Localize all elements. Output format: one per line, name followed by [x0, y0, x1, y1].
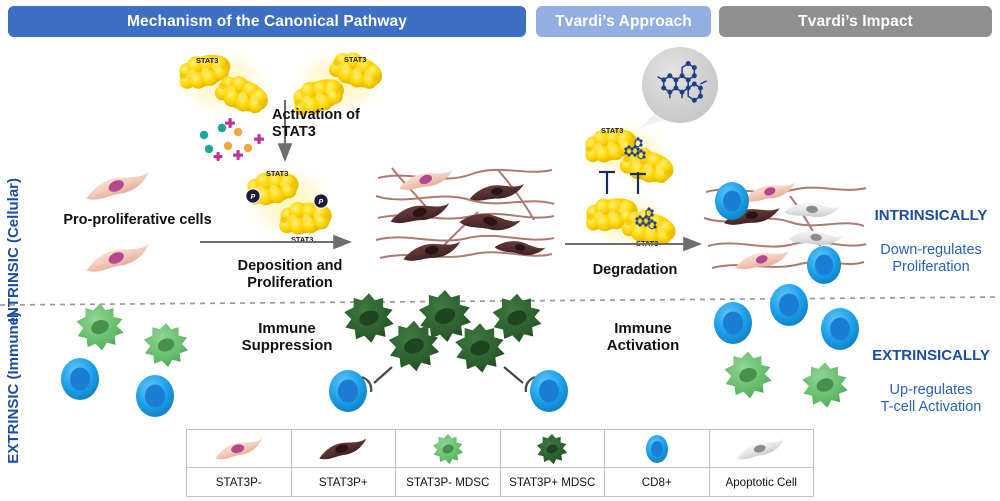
stat3p-plus-cell [494, 237, 546, 258]
stat3p-plus-cell [459, 210, 521, 233]
header-banner-tvardis-impact: Tvardi’s Impact [719, 6, 992, 37]
cytokine-dot-teal [200, 131, 208, 139]
stat3-label: STAT3 [636, 239, 658, 248]
cytokine-dot-teal [205, 145, 213, 153]
cytokine-cross-magenta [214, 118, 265, 161]
conclusion-extrinsic: EXTRINSICALLY Up-regulates T-cell Activa… [865, 330, 997, 433]
cytokine-cluster [200, 118, 264, 161]
legend-icon-cell [292, 430, 396, 468]
drug-molecule-icon [658, 62, 707, 102]
stat3p-minus-cell [742, 181, 797, 203]
axis-label-intrinsic-sub: (Cellular) [5, 178, 22, 243]
proliferating-cell-mass [376, 168, 554, 262]
post-treatment-cell-mass [704, 181, 866, 284]
drug-magnifier [640, 47, 718, 128]
stat3p-plus-cell [402, 240, 462, 263]
matrix-fibers [376, 168, 554, 258]
stat3p-plus-cell [723, 206, 781, 226]
legend: STAT3P- STAT3P+ [186, 429, 814, 497]
phospho-label: P [251, 194, 256, 201]
apoptotic-cell [789, 229, 844, 248]
stat3p-plus-cell [469, 182, 526, 201]
cd8-positive-cell [136, 375, 174, 417]
legend-item-stat3p-minus-mdsc: STAT3P- MDSC [396, 430, 501, 496]
stat3p-minus-mdsc [144, 323, 188, 367]
caption-deposition-and-proliferation: Deposition and Proliferation [205, 258, 375, 291]
stat3-label: STAT3 [601, 126, 623, 135]
caption-pro-proliferative-cells: Pro-proliferative cells [55, 212, 220, 229]
stat3-phosphorylated-dimer: STAT3 STAT3 P P [240, 161, 340, 245]
legend-icon-cell [605, 430, 709, 468]
legend-item-stat3p-plus: STAT3P+ [292, 430, 397, 496]
stat3p-plus-mdsc [389, 321, 439, 371]
cytokine-dot-orange [244, 144, 252, 152]
cd8-positive-cell [329, 370, 367, 412]
stat3-monomer-left: STAT3 [170, 44, 274, 120]
cytokine-dot-orange [224, 142, 232, 150]
axis-label-extrinsic: EXTRINSIC (Immune) [6, 312, 23, 464]
apoptotic-cell-icon [730, 434, 792, 464]
conclusion-intrinsic-headline: INTRINSICALLY [865, 207, 997, 225]
phospho-marker: P [246, 189, 260, 203]
legend-icon-cell [501, 430, 605, 468]
conclusion-intrinsic: INTRINSICALLY Down-regulates Proliferati… [865, 190, 997, 293]
stat3p-minus-cell [83, 242, 152, 274]
legend-label: STAT3P- [187, 468, 291, 496]
stat3p-minus-mdsc-icon [431, 432, 465, 466]
legend-label: STAT3P- MDSC [396, 468, 500, 496]
phospho-marker: P [314, 194, 328, 208]
stat3-inhibited-upper: STAT3 [579, 118, 677, 188]
stat3p-minus-mdsc [802, 362, 847, 407]
intrinsic-extrinsic-divider [0, 294, 1000, 308]
legend-icon-cell [710, 430, 814, 468]
legend-label: STAT3P+ MDSC [501, 468, 605, 496]
stat3p-plus-cell [389, 201, 451, 224]
legend-icon-cell [396, 430, 500, 468]
stat3-inhibited-lower: STAT3 [582, 190, 679, 254]
cd8-positive-cell [530, 370, 568, 412]
legend-icon-cell [187, 430, 291, 468]
stat3p-minus-cell [398, 168, 455, 191]
suppression-inhibition-left [362, 367, 392, 392]
stat3p-plus-mdsc [455, 323, 505, 373]
stat3-label: STAT3 [291, 235, 313, 244]
stat3p-minus-cell-icon [208, 434, 270, 464]
header-banner-label: Tvardi’s Approach [555, 13, 692, 31]
diagram-illustration: STAT3 STAT3 STAT3 STAT3 P [0, 0, 1000, 501]
conclusion-extrinsic-headline: EXTRINSICALLY [865, 347, 997, 365]
caption-degradation: Degradation [570, 262, 700, 279]
cytokine-dot-orange [234, 128, 242, 136]
cd8-positive-cell [821, 308, 859, 350]
cd8-positive-cell [715, 182, 749, 220]
cytokine-dot-teal [218, 124, 226, 132]
conclusion-extrinsic-body: Up-regulates T-cell Activation [865, 382, 997, 416]
cd8-positive-cell [807, 246, 841, 284]
caption-activation-of-stat3: Activation of STAT3 [272, 107, 392, 140]
matrix-fibers [704, 188, 866, 268]
legend-label: CD8+ [605, 468, 709, 496]
phospho-label: P [319, 199, 324, 206]
drug-molecule-bound-icon [625, 138, 645, 159]
header-banner-canonical-pathway: Mechanism of the Canonical Pathway [8, 6, 526, 37]
cd8-positive-cell [714, 302, 752, 344]
stat3p-minus-cell [734, 249, 791, 270]
caption-immune-suppression: Immune Suppression [222, 320, 352, 354]
stat3-label: STAT3 [266, 169, 288, 178]
axis-label-extrinsic-sub: (Immune) [5, 312, 22, 380]
conclusion-intrinsic-body: Down-regulates Proliferation [865, 242, 997, 276]
cd8-positive-cell [61, 358, 99, 400]
stat3p-minus-cell [83, 170, 152, 202]
dashed-divider-line [0, 297, 1000, 305]
stat3p-minus-mdsc [76, 303, 123, 350]
legend-item-stat3p-plus-mdsc: STAT3P+ MDSC [501, 430, 606, 496]
stat3-label: STAT3 [196, 56, 218, 65]
apoptotic-cell [784, 201, 840, 219]
legend-label: Apoptotic Cell [710, 468, 814, 496]
legend-label: STAT3P+ [292, 468, 396, 496]
immune-suppression-left-group [61, 303, 188, 417]
axis-label-extrinsic-main: EXTRINSIC [5, 384, 22, 464]
stat3-label: STAT3 [344, 55, 366, 64]
header-banner-label: Mechanism of the Canonical Pathway [127, 13, 407, 31]
header-banner-label: Tvardi’s Impact [798, 13, 913, 31]
stat3p-plus-cell-icon [312, 434, 374, 464]
inhibition-marker-group [599, 172, 646, 194]
stat3p-minus-mdsc [724, 351, 771, 398]
header-banner-tvardis-approach: Tvardi’s Approach [536, 6, 711, 37]
drug-molecule-bound-icon [636, 208, 656, 229]
stat3p-plus-mdsc-icon [535, 432, 569, 466]
mdsc-suppression-cluster [329, 290, 568, 412]
caption-immune-activation: Immune Activation [578, 320, 708, 354]
legend-item-apoptotic-cell: Apoptotic Cell [710, 430, 814, 496]
suppression-inhibition-right [504, 367, 535, 392]
cd8-positive-cell-icon [642, 432, 672, 466]
legend-item-cd8-positive: CD8+ [605, 430, 710, 496]
legend-item-stat3p-minus: STAT3P- [187, 430, 292, 496]
